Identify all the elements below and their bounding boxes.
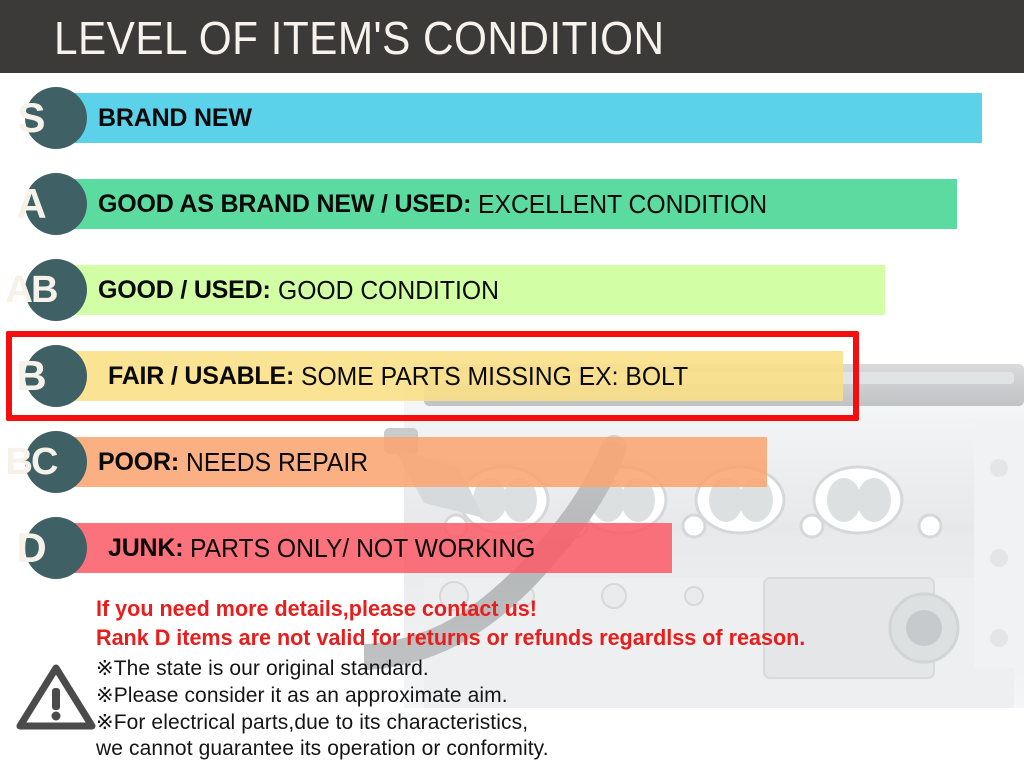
grade-row-ab[interactable]: ABGOOD / USED:GOOD CONDITION	[0, 259, 1024, 321]
footer-note-1: ※The state is our original standard.	[96, 656, 429, 681]
footer-red-line-2: Rank D items are not valid for returns o…	[96, 625, 805, 651]
grade-strong-label: FAIR / USABLE:	[108, 362, 294, 391]
grade-row-b[interactable]: BFAIR / USABLE:SOME PARTS MISSING EX: BO…	[0, 345, 1024, 407]
grade-row-bc[interactable]: BCPOOR:NEEDS REPAIR	[0, 431, 1024, 493]
grade-text-b: FAIR / USABLE:SOME PARTS MISSING EX: BOL…	[108, 345, 709, 407]
grade-strong-label: POOR:	[98, 448, 179, 477]
footer-note-3: ※For electrical parts,due to its charact…	[96, 710, 528, 735]
grade-badge-label: BC	[0, 431, 62, 493]
grade-badge-label: AB	[0, 259, 62, 321]
grade-badge-label: D	[0, 517, 62, 579]
grade-strong-label: JUNK:	[108, 534, 183, 563]
footer-red-line-1: If you need more details,please contact …	[96, 596, 537, 622]
grade-badge-label: B	[0, 345, 62, 407]
header-bar: LEVEL OF ITEM'S CONDITION	[0, 0, 1024, 73]
grade-strong-label: GOOD / USED:	[98, 276, 271, 305]
grade-text-ab: GOOD / USED:GOOD CONDITION	[98, 259, 510, 321]
footer-note-2: ※Please consider it as an approximate ai…	[96, 683, 508, 708]
grade-description: SOME PARTS MISSING EX: BOLT	[301, 361, 688, 392]
grade-row-a[interactable]: AGOOD AS BRAND NEW / USED:EXCELLENT COND…	[0, 173, 1024, 235]
grade-badge-label: A	[0, 173, 62, 235]
grade-badge-label: S	[0, 87, 62, 149]
grade-row-s[interactable]: SBRAND NEW	[0, 87, 1024, 149]
grade-text-a: GOOD AS BRAND NEW / USED:EXCELLENT CONDI…	[98, 173, 783, 235]
grade-description: GOOD CONDITION	[278, 275, 499, 306]
grade-description: EXCELLENT CONDITION	[478, 189, 767, 220]
grade-strong-label: BRAND NEW	[98, 104, 252, 133]
grade-text-s: BRAND NEW	[98, 87, 252, 149]
grade-text-d: JUNK:PARTS ONLY/ NOT WORKING	[108, 517, 554, 579]
grade-strong-label: GOOD AS BRAND NEW / USED:	[98, 190, 471, 219]
grade-row-d[interactable]: DJUNK:PARTS ONLY/ NOT WORKING	[0, 517, 1024, 579]
warning-triangle-icon	[16, 662, 96, 732]
grade-description: NEEDS REPAIR	[186, 447, 368, 478]
footer-note-4: we cannot guarantee its operation or con…	[96, 737, 549, 761]
page-title: LEVEL OF ITEM'S CONDITION	[54, 11, 665, 65]
grade-text-bc: POOR:NEEDS REPAIR	[98, 431, 378, 493]
condition-grade-chart: LEVEL OF ITEM'S CONDITION SBRAND NEWAGOO…	[0, 0, 1024, 768]
grade-description: PARTS ONLY/ NOT WORKING	[190, 533, 535, 564]
